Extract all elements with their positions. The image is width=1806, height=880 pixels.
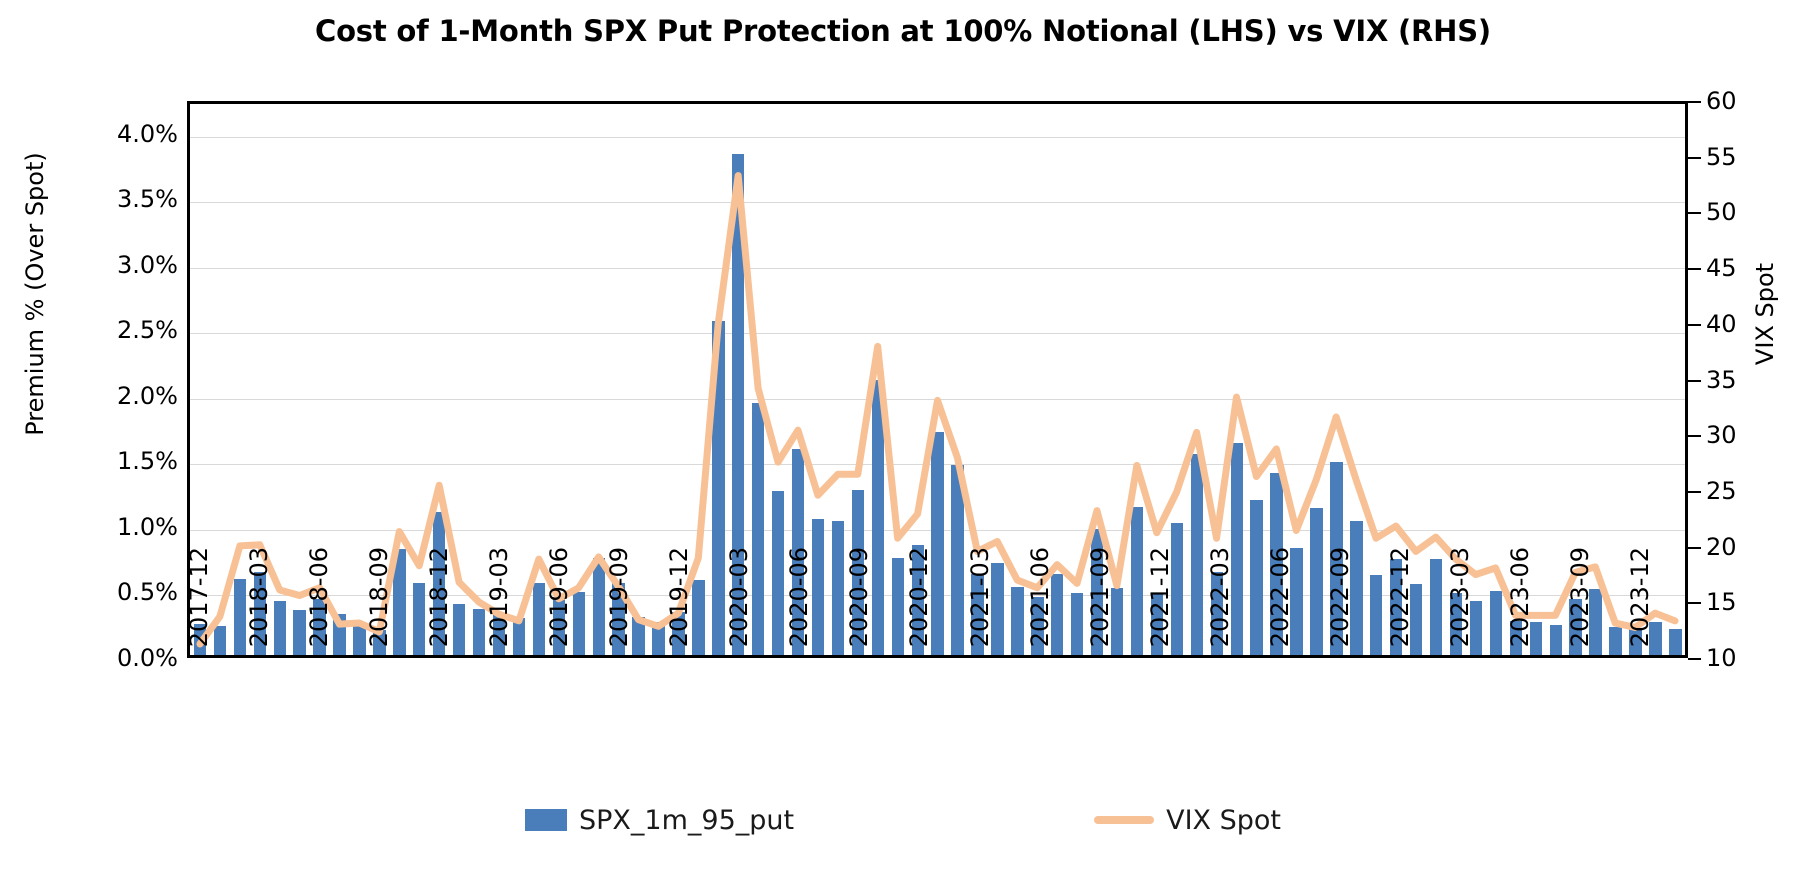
right-axis-tick <box>1688 268 1701 270</box>
x-tick-label: 2023-09 <box>1566 547 1594 671</box>
right-tick-label: 35 <box>1706 366 1737 394</box>
x-tick-label: 2022-03 <box>1206 547 1234 671</box>
x-tick-label: 2017-12 <box>185 547 213 671</box>
x-tick-label: 2022-06 <box>1266 547 1294 671</box>
legend-bar-swatch-icon <box>525 809 567 831</box>
legend-item-vix-spot[interactable]: VIX Spot <box>1094 805 1281 836</box>
legend-line-swatch-icon <box>1094 816 1154 824</box>
x-tick-label: 2021-09 <box>1086 547 1114 671</box>
right-axis-tick <box>1688 324 1701 326</box>
x-tick-label: 2023-12 <box>1626 547 1654 671</box>
right-tick-label: 10 <box>1706 644 1737 672</box>
right-tick-label: 25 <box>1706 477 1737 505</box>
x-tick-label: 2018-03 <box>245 547 273 671</box>
right-tick-label: 45 <box>1706 254 1737 282</box>
right-axis-tick <box>1688 101 1701 103</box>
right-axis-tick <box>1688 491 1701 493</box>
x-tick-label: 2021-06 <box>1026 547 1054 671</box>
right-axis-tick <box>1688 547 1701 549</box>
x-tick-label: 2020-12 <box>905 547 933 671</box>
x-tick-label: 2020-06 <box>785 547 813 671</box>
x-axis-tick-labels: 2017-122018-032018-062018-092018-122019-… <box>187 663 1688 793</box>
chart-legend: SPX_1m_95_put VIX Spot <box>0 800 1806 840</box>
chart-title: Cost of 1-Month SPX Put Protection at 10… <box>0 14 1806 48</box>
x-tick-label: 2018-09 <box>365 547 393 671</box>
left-tick-label: 0.5% <box>117 578 178 606</box>
right-tick-label: 60 <box>1706 87 1737 115</box>
left-tick-label: 3.5% <box>117 185 178 213</box>
right-axis-tick <box>1688 380 1701 382</box>
chart-canvas: Cost of 1-Month SPX Put Protection at 10… <box>0 0 1806 880</box>
left-tick-label: 1.5% <box>117 447 178 475</box>
left-tick-label: 1.0% <box>117 513 178 541</box>
right-axis-tick <box>1688 658 1701 660</box>
right-axis-title: VIX Spot <box>1751 204 1779 424</box>
legend-item-spx-1m-95-put[interactable]: SPX_1m_95_put <box>525 805 794 836</box>
right-axis-ticks <box>1688 101 1702 658</box>
left-tick-label: 0.0% <box>117 644 178 672</box>
left-tick-label: 4.0% <box>117 120 178 148</box>
x-tick-label: 2020-03 <box>725 547 753 671</box>
x-tick-label: 2019-12 <box>665 547 693 671</box>
right-tick-label: 20 <box>1706 533 1737 561</box>
right-tick-label: 15 <box>1706 588 1737 616</box>
left-tick-label: 3.0% <box>117 251 178 279</box>
right-tick-label: 55 <box>1706 143 1737 171</box>
legend-label-spx-1m-95-put: SPX_1m_95_put <box>579 805 794 836</box>
left-tick-label: 2.0% <box>117 382 178 410</box>
left-axis-tick-labels: 0.0%0.5%1.0%1.5%2.0%2.5%3.0%3.5%4.0% <box>90 101 178 658</box>
x-tick-label: 2021-12 <box>1146 547 1174 671</box>
right-axis-tick <box>1688 157 1701 159</box>
left-tick-label: 2.5% <box>117 316 178 344</box>
x-tick-label: 2022-12 <box>1386 547 1414 671</box>
x-tick-label: 2023-06 <box>1506 547 1534 671</box>
x-tick-label: 2020-09 <box>845 547 873 671</box>
left-axis-title: Premium % (Over Spot) <box>21 94 49 494</box>
x-tick-label: 2021-03 <box>966 547 994 671</box>
legend-label-vix-spot: VIX Spot <box>1166 805 1281 836</box>
x-tick-label: 2019-09 <box>605 547 633 671</box>
right-tick-label: 50 <box>1706 198 1737 226</box>
right-axis-tick <box>1688 435 1701 437</box>
x-tick-label: 2018-12 <box>425 547 453 671</box>
x-tick-label: 2019-06 <box>545 547 573 671</box>
right-tick-label: 30 <box>1706 421 1737 449</box>
x-tick-label: 2022-09 <box>1326 547 1354 671</box>
right-axis-tick <box>1688 212 1701 214</box>
x-tick-label: 2018-06 <box>305 547 333 671</box>
right-axis-tick <box>1688 602 1701 604</box>
x-tick-label: 2023-03 <box>1446 547 1474 671</box>
right-tick-label: 40 <box>1706 310 1737 338</box>
x-tick-label: 2019-03 <box>485 547 513 671</box>
